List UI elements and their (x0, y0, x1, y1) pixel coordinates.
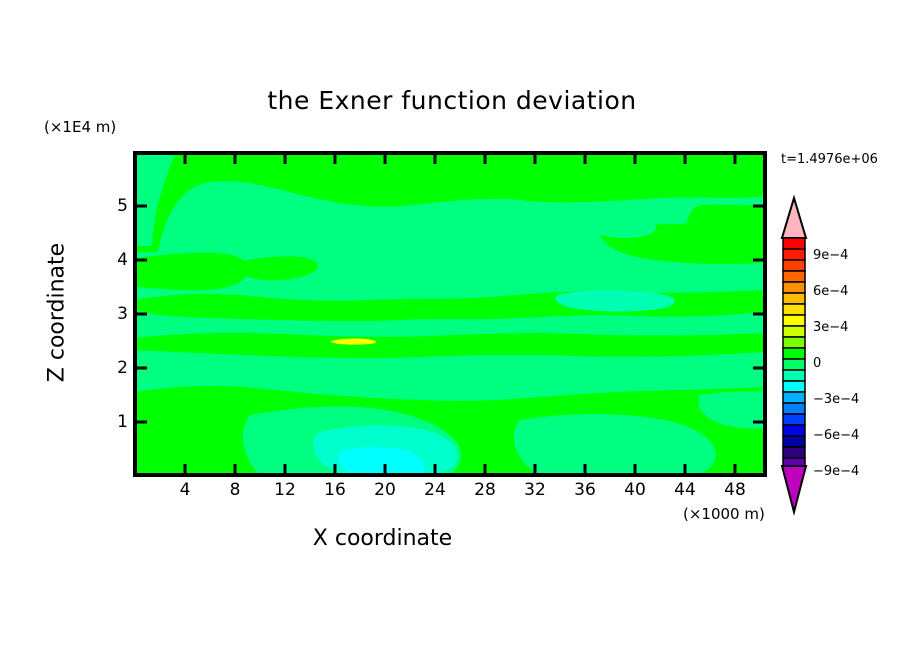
y-tick-label: 2 (88, 358, 128, 378)
plot-canvas (0, 0, 904, 654)
colorbar (782, 198, 806, 512)
x-tick-label: 36 (565, 480, 605, 500)
band-green-lowband (135, 333, 765, 358)
colorbar-tick-label: −3e−4 (813, 392, 859, 407)
colorbar-under-arrow (782, 466, 806, 512)
colorbar-tick-label: 9e−4 (813, 248, 848, 263)
y-tick-label: 3 (88, 304, 128, 324)
colorbar-tick-label: 0 (813, 356, 821, 371)
y-tick-label: 1 (88, 412, 128, 432)
colorbar-tick-label: 3e−4 (813, 320, 848, 335)
x-tick-label: 28 (465, 480, 505, 500)
x-tick-label: 24 (415, 480, 455, 500)
colorbar-tick-label: −9e−4 (813, 464, 859, 479)
colorbar-tick-label: −6e−4 (813, 428, 859, 443)
x-tick-label: 20 (365, 480, 405, 500)
x-tick-label: 8 (215, 480, 255, 500)
y-tick-label: 5 (88, 196, 128, 216)
x-tick-label: 44 (665, 480, 705, 500)
band-green-upper2 (135, 253, 248, 290)
contour-figure: the Exner function deviation (×1E4 m) t=… (0, 0, 904, 654)
colorbar-over-arrow (782, 198, 806, 238)
x-tick-label: 32 (515, 480, 555, 500)
x-tick-label: 40 (615, 480, 655, 500)
colorbar-tick-label: 6e−4 (813, 284, 848, 299)
x-tick-label: 12 (265, 480, 305, 500)
x-tick-label: 4 (165, 480, 205, 500)
x-tick-label: 48 (715, 480, 755, 500)
x-tick-label: 16 (315, 480, 355, 500)
colorbar-bands (783, 238, 805, 466)
contour-field (135, 153, 765, 475)
y-tick-label: 4 (88, 250, 128, 270)
